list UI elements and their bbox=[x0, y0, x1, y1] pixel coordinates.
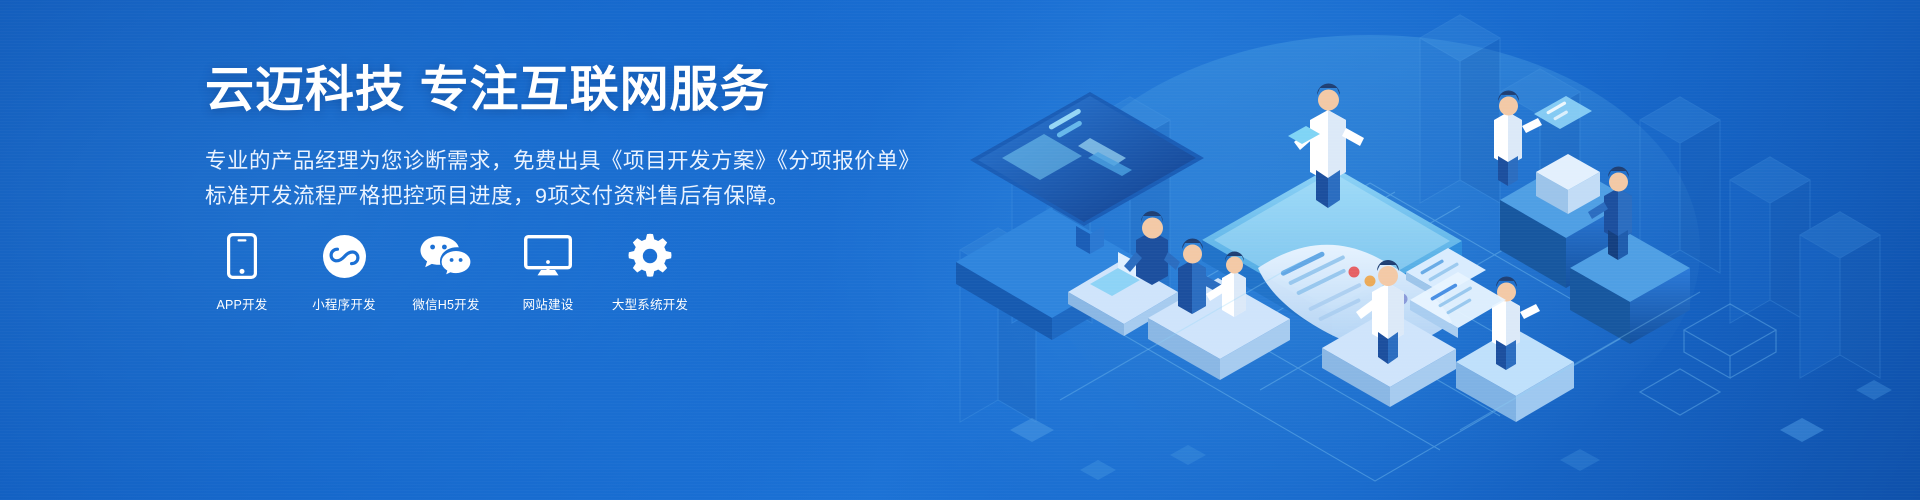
subtitle-line-1: 专业的产品经理为您诊断需求，免费出具《项目开发方案》《分项报价单》 bbox=[205, 144, 925, 179]
subtitle-line-2: 标准开发流程严格把控项目进度，9项交付资料售后有保障。 bbox=[205, 179, 925, 214]
service-label: 小程序开发 bbox=[312, 294, 376, 313]
hero-illustration bbox=[940, 0, 1920, 500]
service-label: 网站建设 bbox=[523, 294, 574, 313]
service-item-app[interactable]: APP开发 bbox=[205, 232, 279, 313]
gear-icon bbox=[627, 232, 673, 280]
page-title: 云迈科技 专注互联网服务 bbox=[205, 62, 925, 120]
service-item-miniprogram[interactable]: 小程序开发 bbox=[307, 232, 381, 313]
hero-banner: 云迈科技 专注互联网服务 专业的产品经理为您诊断需求，免费出具《项目开发方案》《… bbox=[0, 0, 1920, 500]
monitor-icon bbox=[524, 232, 572, 280]
service-label: APP开发 bbox=[216, 294, 267, 313]
mobile-phone-icon bbox=[227, 232, 257, 280]
service-icon-row: APP开发 小程序开发 bbox=[205, 232, 687, 313]
service-label: 微信H5开发 bbox=[412, 294, 479, 313]
service-item-website[interactable]: 网站建设 bbox=[511, 232, 585, 313]
hero-subtitle: 专业的产品经理为您诊断需求，免费出具《项目开发方案》《分项报价单》 标准开发流程… bbox=[205, 144, 925, 214]
service-item-system[interactable]: 大型系统开发 bbox=[613, 232, 687, 313]
hero-text-block: 云迈科技 专注互联网服务 专业的产品经理为您诊断需求，免费出具《项目开发方案》《… bbox=[205, 62, 925, 213]
wechat-icon bbox=[419, 232, 473, 280]
service-label: 大型系统开发 bbox=[612, 294, 688, 313]
service-item-wechat[interactable]: 微信H5开发 bbox=[409, 232, 483, 313]
mini-program-icon bbox=[322, 232, 367, 280]
